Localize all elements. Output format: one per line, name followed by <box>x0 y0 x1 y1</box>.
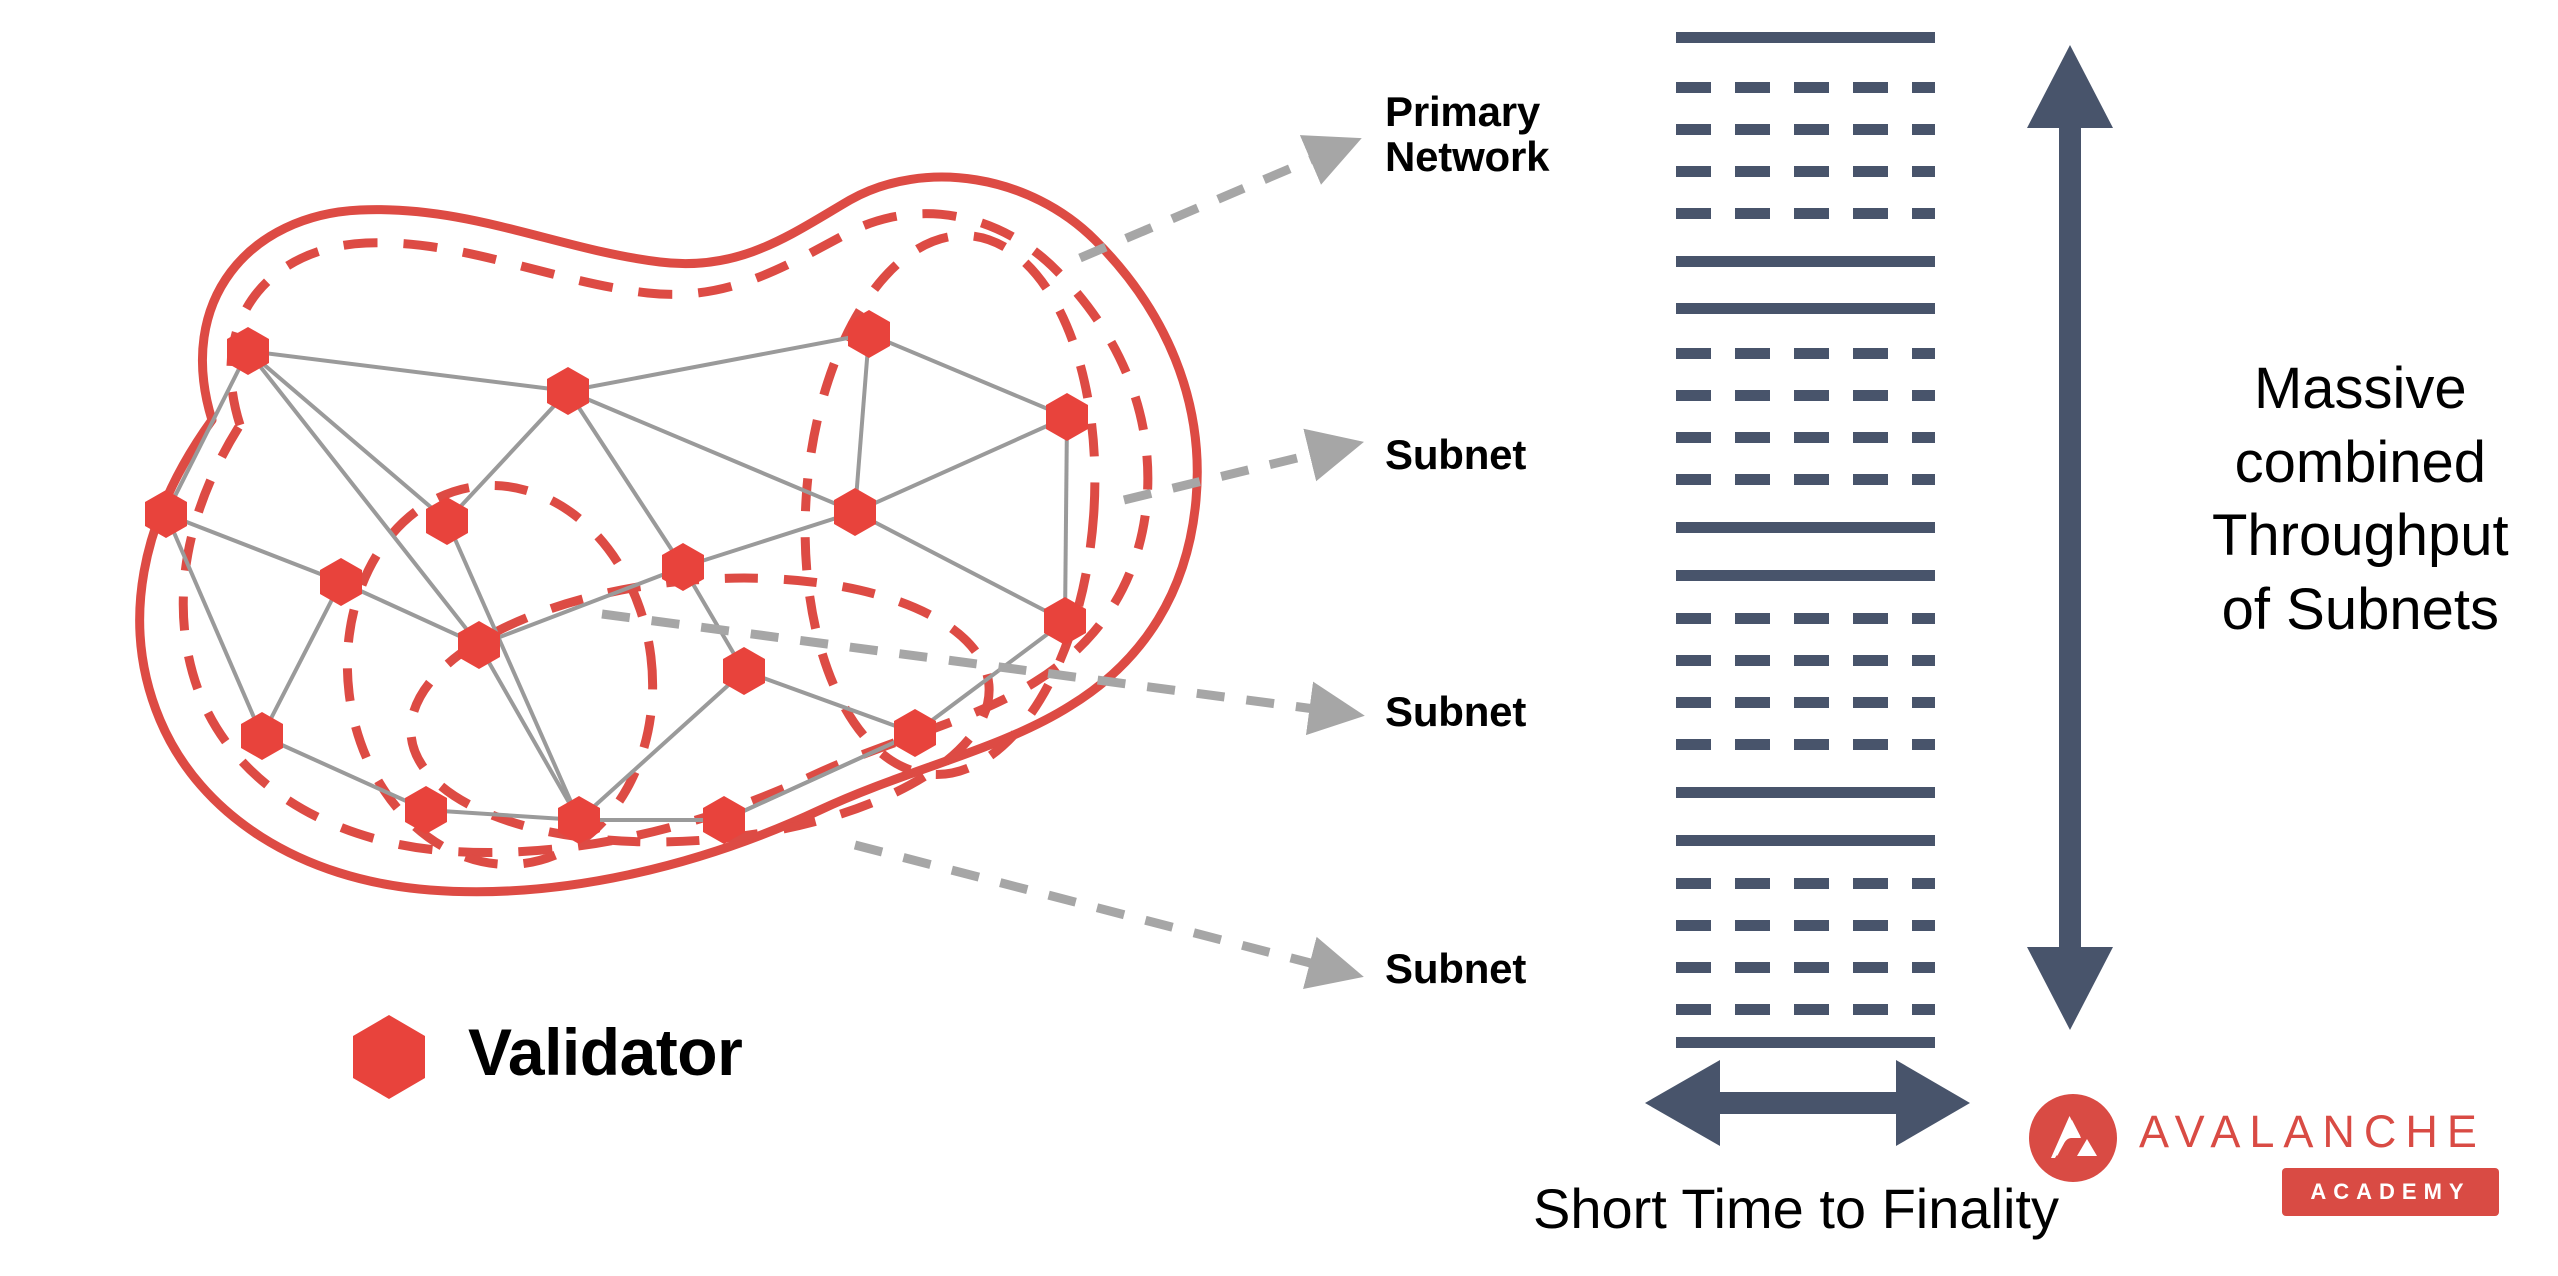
throughput-bar-dash <box>1794 208 1829 219</box>
validator-node <box>723 647 765 695</box>
throughput-bar-dash <box>1735 208 1770 219</box>
throughput-bar-dash <box>1735 390 1770 401</box>
callout-label-subnet-1: Subnet <box>1385 433 1526 478</box>
throughput-caption: Massive combined Throughput of Subnets <box>2212 352 2509 647</box>
throughput-bar-dash <box>1853 124 1888 135</box>
throughput-bar-dash <box>1912 432 1935 443</box>
diagram-canvas: Primary Network Subnet Subnet Subnet Val… <box>0 0 2558 1276</box>
throughput-bar-dash <box>1853 1004 1888 1015</box>
validator-node <box>241 712 283 760</box>
throughput-bar-dash <box>1735 82 1770 93</box>
throughput-bar-dash <box>1735 432 1770 443</box>
avalanche-logo-icon <box>2029 1094 2117 1182</box>
throughput-bar-dash <box>1912 82 1935 93</box>
avalanche-wordmark: AVALANCHE <box>2139 1106 2486 1158</box>
throughput-bar-dash <box>1676 390 1711 401</box>
validator-node <box>834 488 876 536</box>
throughput-bar-dash <box>1735 655 1770 666</box>
throughput-bar-dash <box>1735 166 1770 177</box>
callout-leader-lines <box>602 155 1322 966</box>
throughput-bar-dash <box>1735 1004 1770 1015</box>
throughput-bar-dash <box>1912 920 1935 931</box>
throughput-bar-dash <box>1676 878 1711 889</box>
throughput-bar-dash <box>1676 82 1711 93</box>
callout-label-subnet-2: Subnet <box>1385 690 1526 735</box>
throughput-bar-dash <box>1853 432 1888 443</box>
validator-node <box>894 709 936 757</box>
throughput-bar-dash <box>1676 613 1711 624</box>
throughput-bar-dash <box>1853 739 1888 750</box>
academy-badge-label: ACADEMY <box>2282 1168 2499 1216</box>
throughput-bar-dash <box>1735 739 1770 750</box>
throughput-bar-dash <box>1794 432 1829 443</box>
throughput-bar-dash <box>1853 390 1888 401</box>
throughput-bar-dash <box>1794 124 1829 135</box>
throughput-bar-dash <box>1735 962 1770 973</box>
throughput-bar-dash <box>1794 739 1829 750</box>
throughput-bar-dash <box>1853 348 1888 359</box>
throughput-bar-dash <box>1794 697 1829 708</box>
throughput-bar-dash <box>1676 474 1711 485</box>
validator-node <box>320 558 362 606</box>
throughput-bar-dash <box>1794 878 1829 889</box>
throughput-bar-solid <box>1676 303 1935 314</box>
throughput-bar-dash <box>1912 390 1935 401</box>
throughput-bar-dash <box>1853 208 1888 219</box>
throughput-bar-dash <box>1735 124 1770 135</box>
throughput-bar-dash <box>1676 348 1711 359</box>
throughput-bar-dash <box>1794 474 1829 485</box>
throughput-bar-dash <box>1676 166 1711 177</box>
leader-primary-network <box>1080 155 1322 258</box>
throughput-bar-solid <box>1676 787 1935 798</box>
throughput-bar-dash <box>1853 166 1888 177</box>
legend-validator-label: Validator <box>468 1018 742 1088</box>
throughput-bar-dash <box>1853 613 1888 624</box>
finality-caption: Short Time to Finality <box>1533 1179 2059 1238</box>
network-diagram-svg <box>0 0 2558 1276</box>
throughput-bar-dash <box>1794 613 1829 624</box>
throughput-bar-dash <box>1853 878 1888 889</box>
throughput-bar-dash <box>1735 697 1770 708</box>
throughput-bar-dash <box>1676 739 1711 750</box>
throughput-vertical-arrow <box>2027 45 2113 1030</box>
finality-horizontal-arrow <box>1645 1060 1970 1146</box>
throughput-bar-dash <box>1794 166 1829 177</box>
throughput-bar-dash <box>1676 432 1711 443</box>
throughput-bar-dash <box>1912 166 1935 177</box>
throughput-bar-dash <box>1794 82 1829 93</box>
validator-node <box>405 786 447 834</box>
throughput-bar-solid <box>1676 32 1935 43</box>
throughput-bar-dash <box>1912 124 1935 135</box>
throughput-bar-dash <box>1853 474 1888 485</box>
throughput-bar-dash <box>1912 474 1935 485</box>
throughput-bar-dash <box>1912 1004 1935 1015</box>
throughput-bar-dash <box>1912 655 1935 666</box>
throughput-bar-dash <box>1794 390 1829 401</box>
throughput-bar-dash <box>1912 878 1935 889</box>
throughput-bar-dash <box>1735 878 1770 889</box>
throughput-bar-dash <box>1794 962 1829 973</box>
throughput-bar-dash <box>1676 208 1711 219</box>
validator-node <box>1046 393 1088 441</box>
throughput-bar-dash <box>1735 613 1770 624</box>
throughput-bar-dash <box>1853 920 1888 931</box>
throughput-bar-dash <box>1912 697 1935 708</box>
leader-subnet-1 <box>1124 452 1322 500</box>
subnet-ellipse-large <box>183 214 1148 853</box>
throughput-bar-solid <box>1676 835 1935 846</box>
throughput-bar-dash <box>1794 348 1829 359</box>
throughput-bar-dash <box>1853 655 1888 666</box>
avalanche-academy-logo: AVALANCHE ACADEMY <box>2029 1094 2499 1222</box>
throughput-bar-solid <box>1676 570 1935 581</box>
throughput-bar-dash <box>1735 474 1770 485</box>
throughput-bar-dash <box>1912 962 1935 973</box>
throughput-bar-dash <box>1912 613 1935 624</box>
throughput-bar-dash <box>1912 348 1935 359</box>
throughput-bar-dash <box>1735 348 1770 359</box>
callout-label-primary-network: Primary Network <box>1385 90 1549 179</box>
throughput-bar-dash <box>1853 962 1888 973</box>
callout-label-subnet-3: Subnet <box>1385 947 1526 992</box>
throughput-bar-dash <box>1853 82 1888 93</box>
throughput-bar-solid <box>1676 522 1935 533</box>
throughput-bar-dash <box>1794 920 1829 931</box>
throughput-bar-dash <box>1676 655 1711 666</box>
academy-badge: ACADEMY <box>2282 1168 2499 1216</box>
throughput-bar-dash <box>1794 655 1829 666</box>
throughput-bar-dash <box>1794 1004 1829 1015</box>
throughput-bar-column <box>1676 32 1935 1048</box>
throughput-bar-dash <box>1676 124 1711 135</box>
throughput-bar-dash <box>1735 920 1770 931</box>
legend-validator-hexagon <box>353 1015 425 1099</box>
throughput-bar-dash <box>1676 962 1711 973</box>
primary-network-group <box>140 177 1198 892</box>
throughput-bar-dash <box>1912 208 1935 219</box>
throughput-bar-dash <box>1676 920 1711 931</box>
leader-subnet-3 <box>855 845 1322 966</box>
throughput-bar-solid <box>1676 1037 1935 1048</box>
throughput-bar-dash <box>1853 697 1888 708</box>
throughput-bar-solid <box>1676 256 1935 267</box>
throughput-bar-dash <box>1912 739 1935 750</box>
throughput-bar-dash <box>1676 697 1711 708</box>
throughput-bar-dash <box>1676 1004 1711 1015</box>
